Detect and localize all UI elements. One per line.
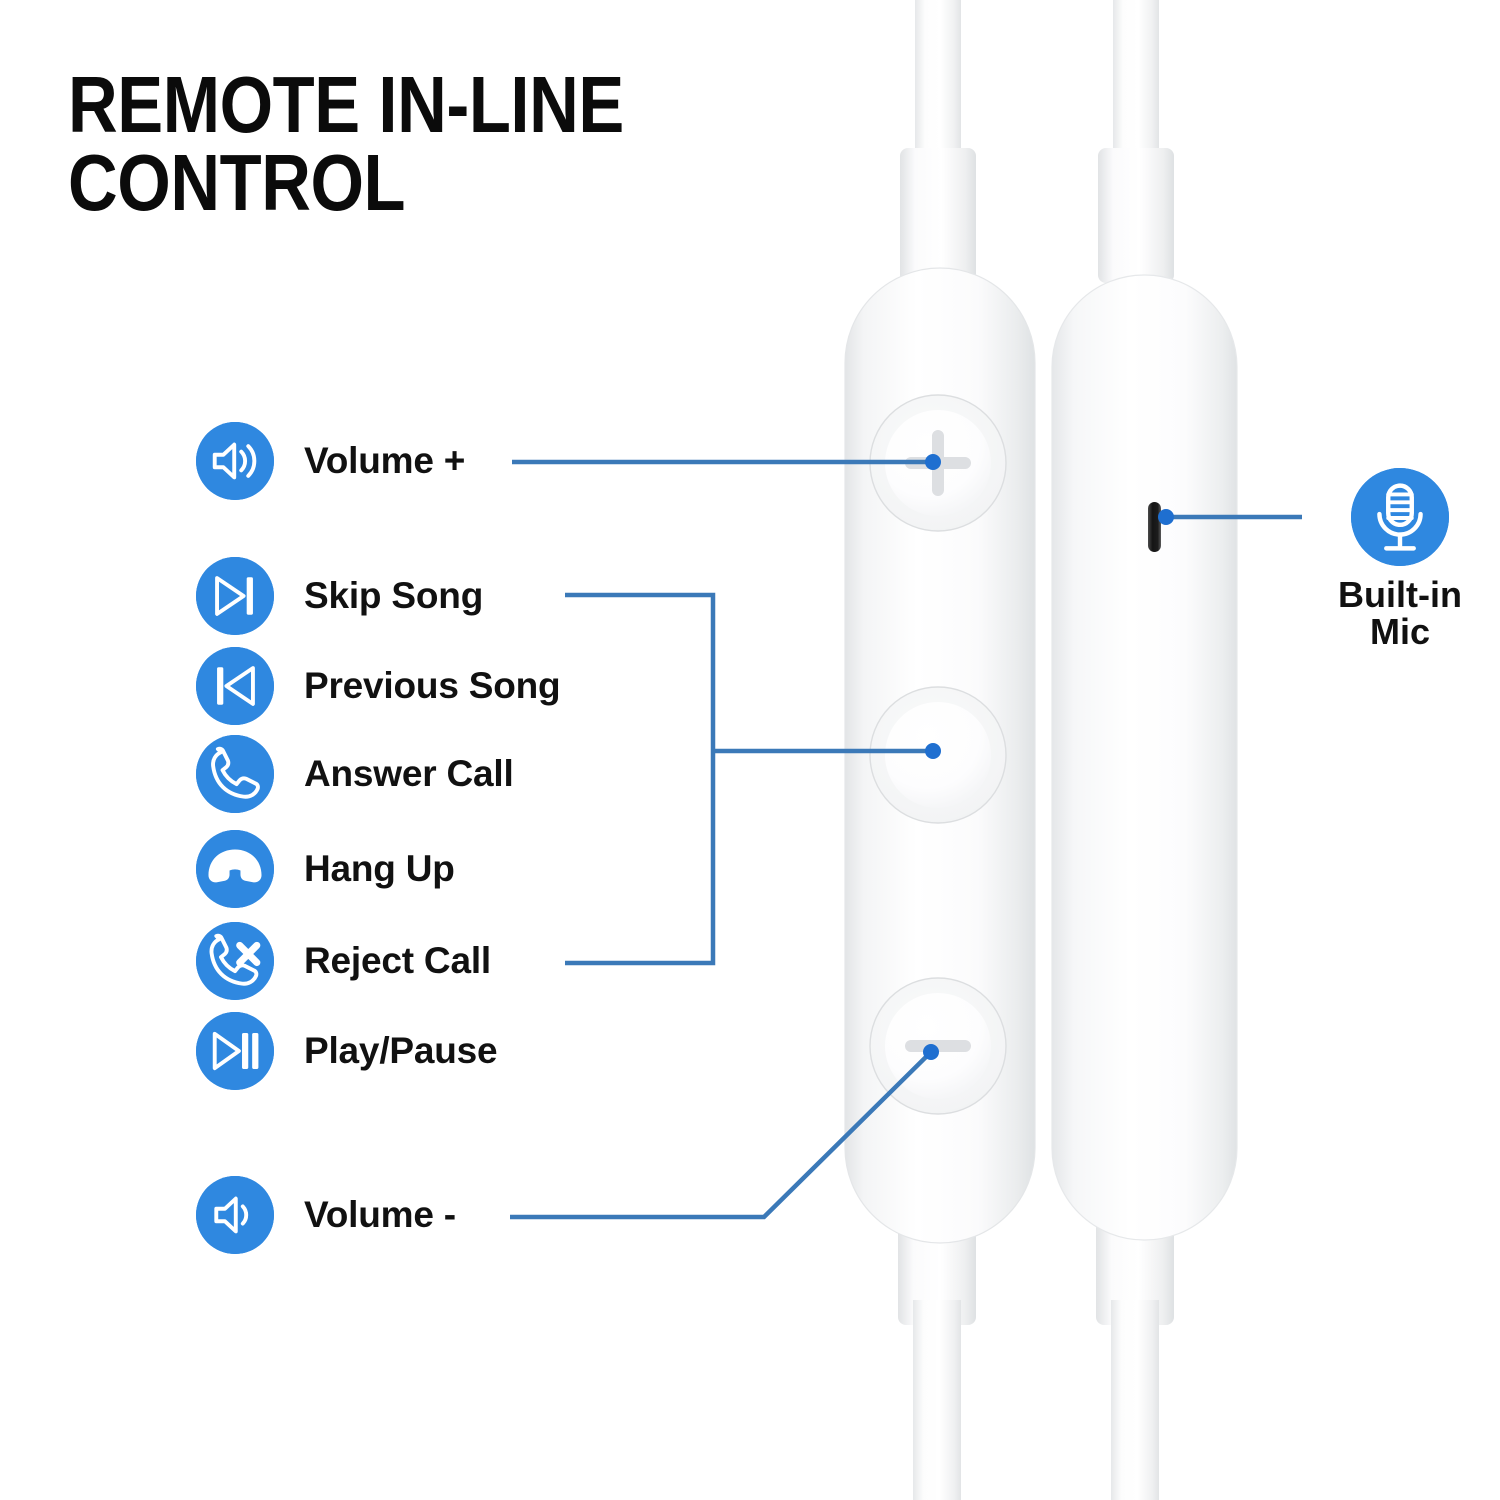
leader-volume-down xyxy=(510,1053,930,1217)
leader-dot-volume-up xyxy=(925,454,941,470)
play-pause-icon xyxy=(196,1012,274,1090)
feature-row-hang-up[interactable]: Hang Up xyxy=(196,830,455,908)
feature-row-reject-call[interactable]: Reject Call xyxy=(196,922,491,1000)
feature-row-volume-up[interactable]: Volume + xyxy=(196,422,465,500)
feature-row-play-pause[interactable]: Play/Pause xyxy=(196,1012,497,1090)
skip-next-icon xyxy=(196,557,274,635)
feature-label: Reject Call xyxy=(304,940,491,982)
phone-answer-icon xyxy=(196,735,274,813)
feature-label: Volume - xyxy=(304,1194,456,1236)
center-button-art xyxy=(870,687,1006,823)
leader-media-bracket xyxy=(565,595,934,963)
phone-hangup-icon xyxy=(196,830,274,908)
feature-label: Answer Call xyxy=(304,753,514,795)
feature-label: Play/Pause xyxy=(304,1030,497,1072)
infographic-canvas: REMOTE IN-LINE CONTROL Volume + Skip Son… xyxy=(0,0,1500,1500)
feature-label: Volume + xyxy=(304,440,465,482)
page-title: REMOTE IN-LINE CONTROL xyxy=(68,66,739,221)
built-in-mic-label: Built-in Mic xyxy=(1305,576,1495,651)
leader-dot-volume-down xyxy=(923,1044,939,1060)
volume-down-button-art xyxy=(870,978,1006,1114)
volume-down-icon xyxy=(196,1176,274,1254)
feature-label: Hang Up xyxy=(304,848,455,890)
feature-row-previous-song[interactable]: Previous Song xyxy=(196,647,560,725)
built-in-mic-group[interactable]: Built-in Mic xyxy=(1305,468,1495,651)
feature-label: Skip Song xyxy=(304,575,483,617)
skip-previous-icon xyxy=(196,647,274,725)
feature-row-skip-song[interactable]: Skip Song xyxy=(196,557,483,635)
feature-row-volume-down[interactable]: Volume - xyxy=(196,1176,456,1254)
leader-dot-center xyxy=(925,743,941,759)
microphone-slot-art xyxy=(1148,502,1161,552)
feature-label: Previous Song xyxy=(304,665,560,707)
leader-dot-mic xyxy=(1158,509,1174,525)
microphone-icon xyxy=(1351,468,1449,566)
phone-reject-icon xyxy=(196,922,274,1000)
volume-up-button-art xyxy=(870,395,1006,531)
volume-up-icon xyxy=(196,422,274,500)
feature-row-answer-call[interactable]: Answer Call xyxy=(196,735,514,813)
